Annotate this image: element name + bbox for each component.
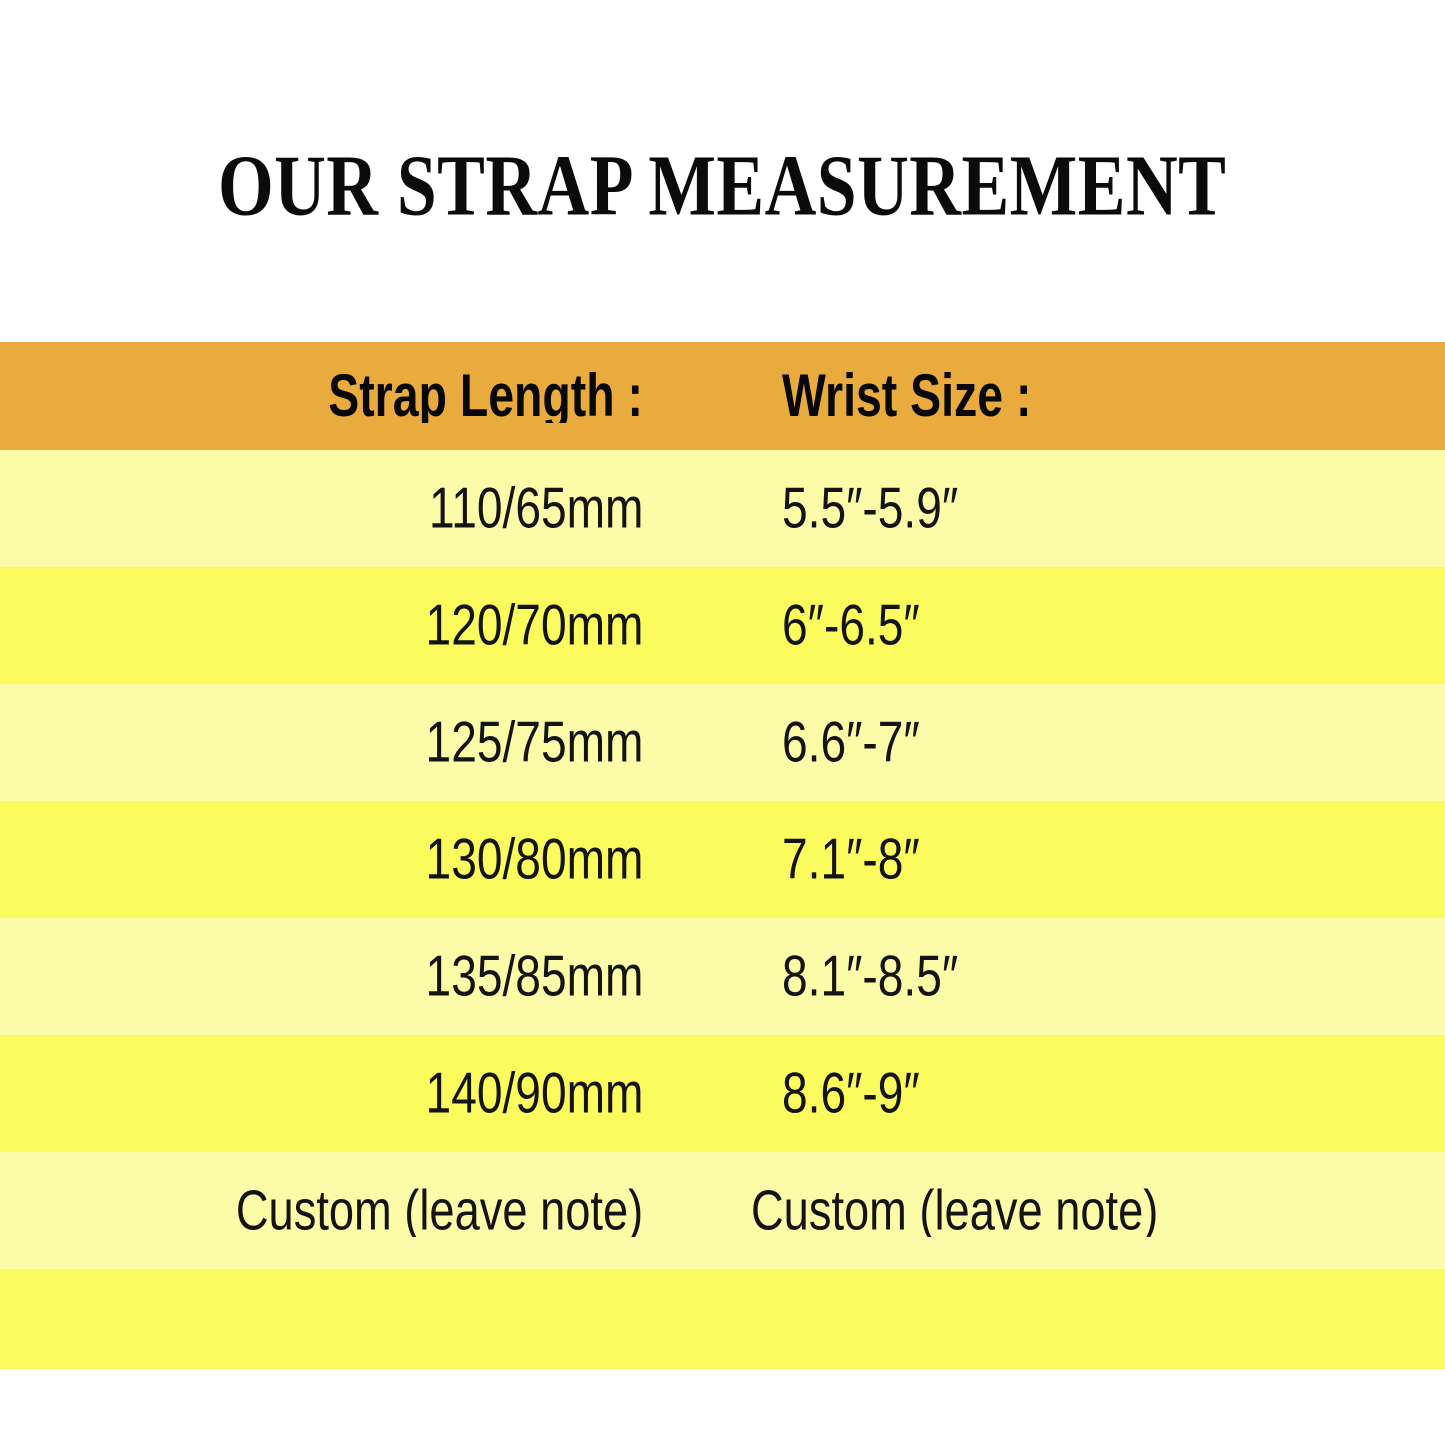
cell-wrist-size: Custom (leave note) [645, 1185, 1445, 1237]
table-header-row: Strap Length : Wrist Size : [0, 342, 1445, 450]
cell-strap-length: Custom (leave note) [0, 1185, 645, 1237]
cell-wrist-size: 5.5″-5.9″ [645, 482, 1445, 535]
cell-wrist-size: 7.1″-8″ [645, 833, 1445, 886]
cell-strap-length: 135/85mm [0, 950, 645, 1003]
table-row: 125/75mm 6.6″-7″ [0, 684, 1445, 801]
cell-value-wrist-size: 6″-6.5″ [782, 599, 920, 652]
cell-strap-length: 120/70mm [0, 599, 645, 652]
cell-value-wrist-size: 6.6″-7″ [782, 716, 920, 769]
cell-value-wrist-size: 8.1″-8.5″ [782, 950, 958, 1003]
cell-value-strap-length: 130/80mm [425, 833, 643, 886]
cell-value-strap-length: 110/65mm [429, 482, 643, 535]
table-row: 140/90mm 8.6″-9″ [0, 1035, 1445, 1152]
page-title-container: OUR STRAP MEASUREMENT [0, 130, 1445, 240]
cell-strap-length: 110/65mm [0, 482, 645, 535]
cell-value-wrist-size: 8.6″-9″ [782, 1067, 920, 1120]
measurement-table: Strap Length : Wrist Size : 110/65mm 5.5… [0, 342, 1445, 1369]
cell-strap-length: 125/75mm [0, 716, 645, 769]
cell-value-strap-length: 125/75mm [425, 716, 643, 769]
cell-wrist-size: 6.6″-7″ [645, 716, 1445, 769]
cell-wrist-size: 8.1″-8.5″ [645, 950, 1445, 1003]
cell-value-wrist-size: Custom (leave note) [751, 1185, 1158, 1237]
strap-measurement-chart: OUR STRAP MEASUREMENT Strap Length : Wri… [0, 0, 1445, 1445]
cell-value-wrist-size: 5.5″-5.9″ [782, 482, 958, 535]
column-header-label-strap-length: Strap Length : [328, 369, 643, 423]
cell-strap-length: 130/80mm [0, 833, 645, 886]
table-row-empty [0, 1269, 1445, 1369]
table-header-cell-strap-length: Strap Length : [0, 369, 645, 423]
cell-value-strap-length: 120/70mm [425, 599, 643, 652]
table-row-custom: Custom (leave note) Custom (leave note) [0, 1152, 1445, 1269]
page-title: OUR STRAP MEASUREMENT [218, 141, 1226, 228]
table-row: 130/80mm 7.1″-8″ [0, 801, 1445, 918]
cell-wrist-size [645, 1310, 1445, 1328]
table-row: 135/85mm 8.1″-8.5″ [0, 918, 1445, 1035]
cell-strap-length: 140/90mm [0, 1067, 645, 1120]
cell-strap-length [0, 1310, 645, 1328]
cell-wrist-size: 6″-6.5″ [645, 599, 1445, 652]
cell-value-strap-length: 140/90mm [425, 1067, 643, 1120]
cell-wrist-size: 8.6″-9″ [645, 1067, 1445, 1120]
cell-value-strap-length: 135/85mm [425, 950, 643, 1003]
cell-value-wrist-size: 7.1″-8″ [782, 833, 920, 886]
column-header-label-wrist-size: Wrist Size : [782, 369, 1031, 423]
table-row: 110/65mm 5.5″-5.9″ [0, 450, 1445, 567]
table-header-cell-wrist-size: Wrist Size : [645, 369, 1445, 423]
cell-value-strap-length: Custom (leave note) [236, 1185, 643, 1237]
table-row: 120/70mm 6″-6.5″ [0, 567, 1445, 684]
